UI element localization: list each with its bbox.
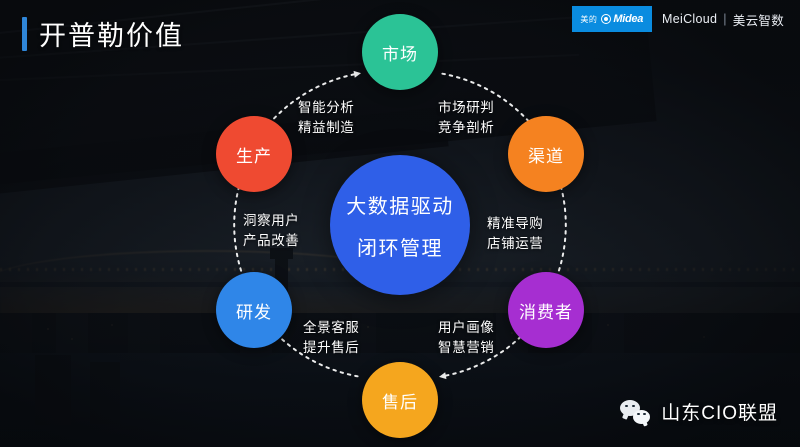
label-production-to-market-line1: 智能分析 xyxy=(298,98,354,118)
node-production-label: 生产 xyxy=(236,142,272,167)
wechat-dot-4 xyxy=(643,413,645,415)
label-aftersales-to-rnd-line1: 全景客服 xyxy=(303,318,359,338)
label-channel-to-consumer: 精准导购 店铺运营 xyxy=(487,214,543,253)
wechat-icon xyxy=(620,400,650,424)
node-rnd[interactable]: 研发 xyxy=(216,272,292,348)
center-node-line2: 闭环管理 xyxy=(357,232,443,261)
node-aftersales-label: 售后 xyxy=(382,388,418,413)
label-channel-to-consumer-line2: 店铺运营 xyxy=(487,234,543,254)
label-rnd-to-production-line1: 洞察用户 xyxy=(243,211,299,231)
node-channel[interactable]: 渠道 xyxy=(508,116,584,192)
label-consumer-to-aftersales-line2: 智慧营销 xyxy=(438,338,494,358)
label-rnd-to-production-line2: 产品改善 xyxy=(243,231,299,251)
wechat-bubble-small xyxy=(633,410,650,424)
node-rnd-label: 研发 xyxy=(236,298,272,323)
node-aftersales[interactable]: 售后 xyxy=(362,362,438,438)
watermark: 山东CIO联盟 xyxy=(620,398,778,425)
wechat-dot-1 xyxy=(625,405,627,407)
label-market-to-channel: 市场研判 竞争剖析 xyxy=(438,98,494,137)
watermark-text: 山东CIO联盟 xyxy=(661,398,778,425)
label-market-to-channel-line1: 市场研判 xyxy=(438,98,494,118)
slide-canvas: 开普勒价值 美的 Midea MeiCloud | 美云智数 xyxy=(0,0,800,447)
label-rnd-to-production: 洞察用户 产品改善 xyxy=(243,211,299,250)
center-node[interactable]: 大数据驱动 闭环管理 xyxy=(330,155,470,295)
label-consumer-to-aftersales-line1: 用户画像 xyxy=(438,318,494,338)
label-market-to-channel-line2: 竞争剖析 xyxy=(438,118,494,138)
node-production[interactable]: 生产 xyxy=(216,116,292,192)
label-production-to-market-line2: 精益制造 xyxy=(298,118,354,138)
label-production-to-market: 智能分析 精益制造 xyxy=(298,98,354,137)
wechat-dot-2 xyxy=(632,405,634,407)
label-channel-to-consumer-line1: 精准导购 xyxy=(487,214,543,234)
node-market[interactable]: 市场 xyxy=(362,14,438,90)
label-consumer-to-aftersales: 用户画像 智慧营销 xyxy=(438,318,494,357)
label-aftersales-to-rnd-line2: 提升售后 xyxy=(303,338,359,358)
label-aftersales-to-rnd: 全景客服 提升售后 xyxy=(303,318,359,357)
node-consumer-label: 消费者 xyxy=(519,298,573,323)
node-consumer[interactable]: 消费者 xyxy=(508,272,584,348)
center-node-line1: 大数据驱动 xyxy=(346,190,454,219)
wechat-dot-3 xyxy=(637,413,639,415)
node-channel-label: 渠道 xyxy=(528,142,564,167)
value-cycle-diagram: 大数据驱动 闭环管理 市场 渠道 消费者 售后 研发 生产 智能分析 精益制造 … xyxy=(0,0,800,447)
node-market-label: 市场 xyxy=(382,40,418,65)
